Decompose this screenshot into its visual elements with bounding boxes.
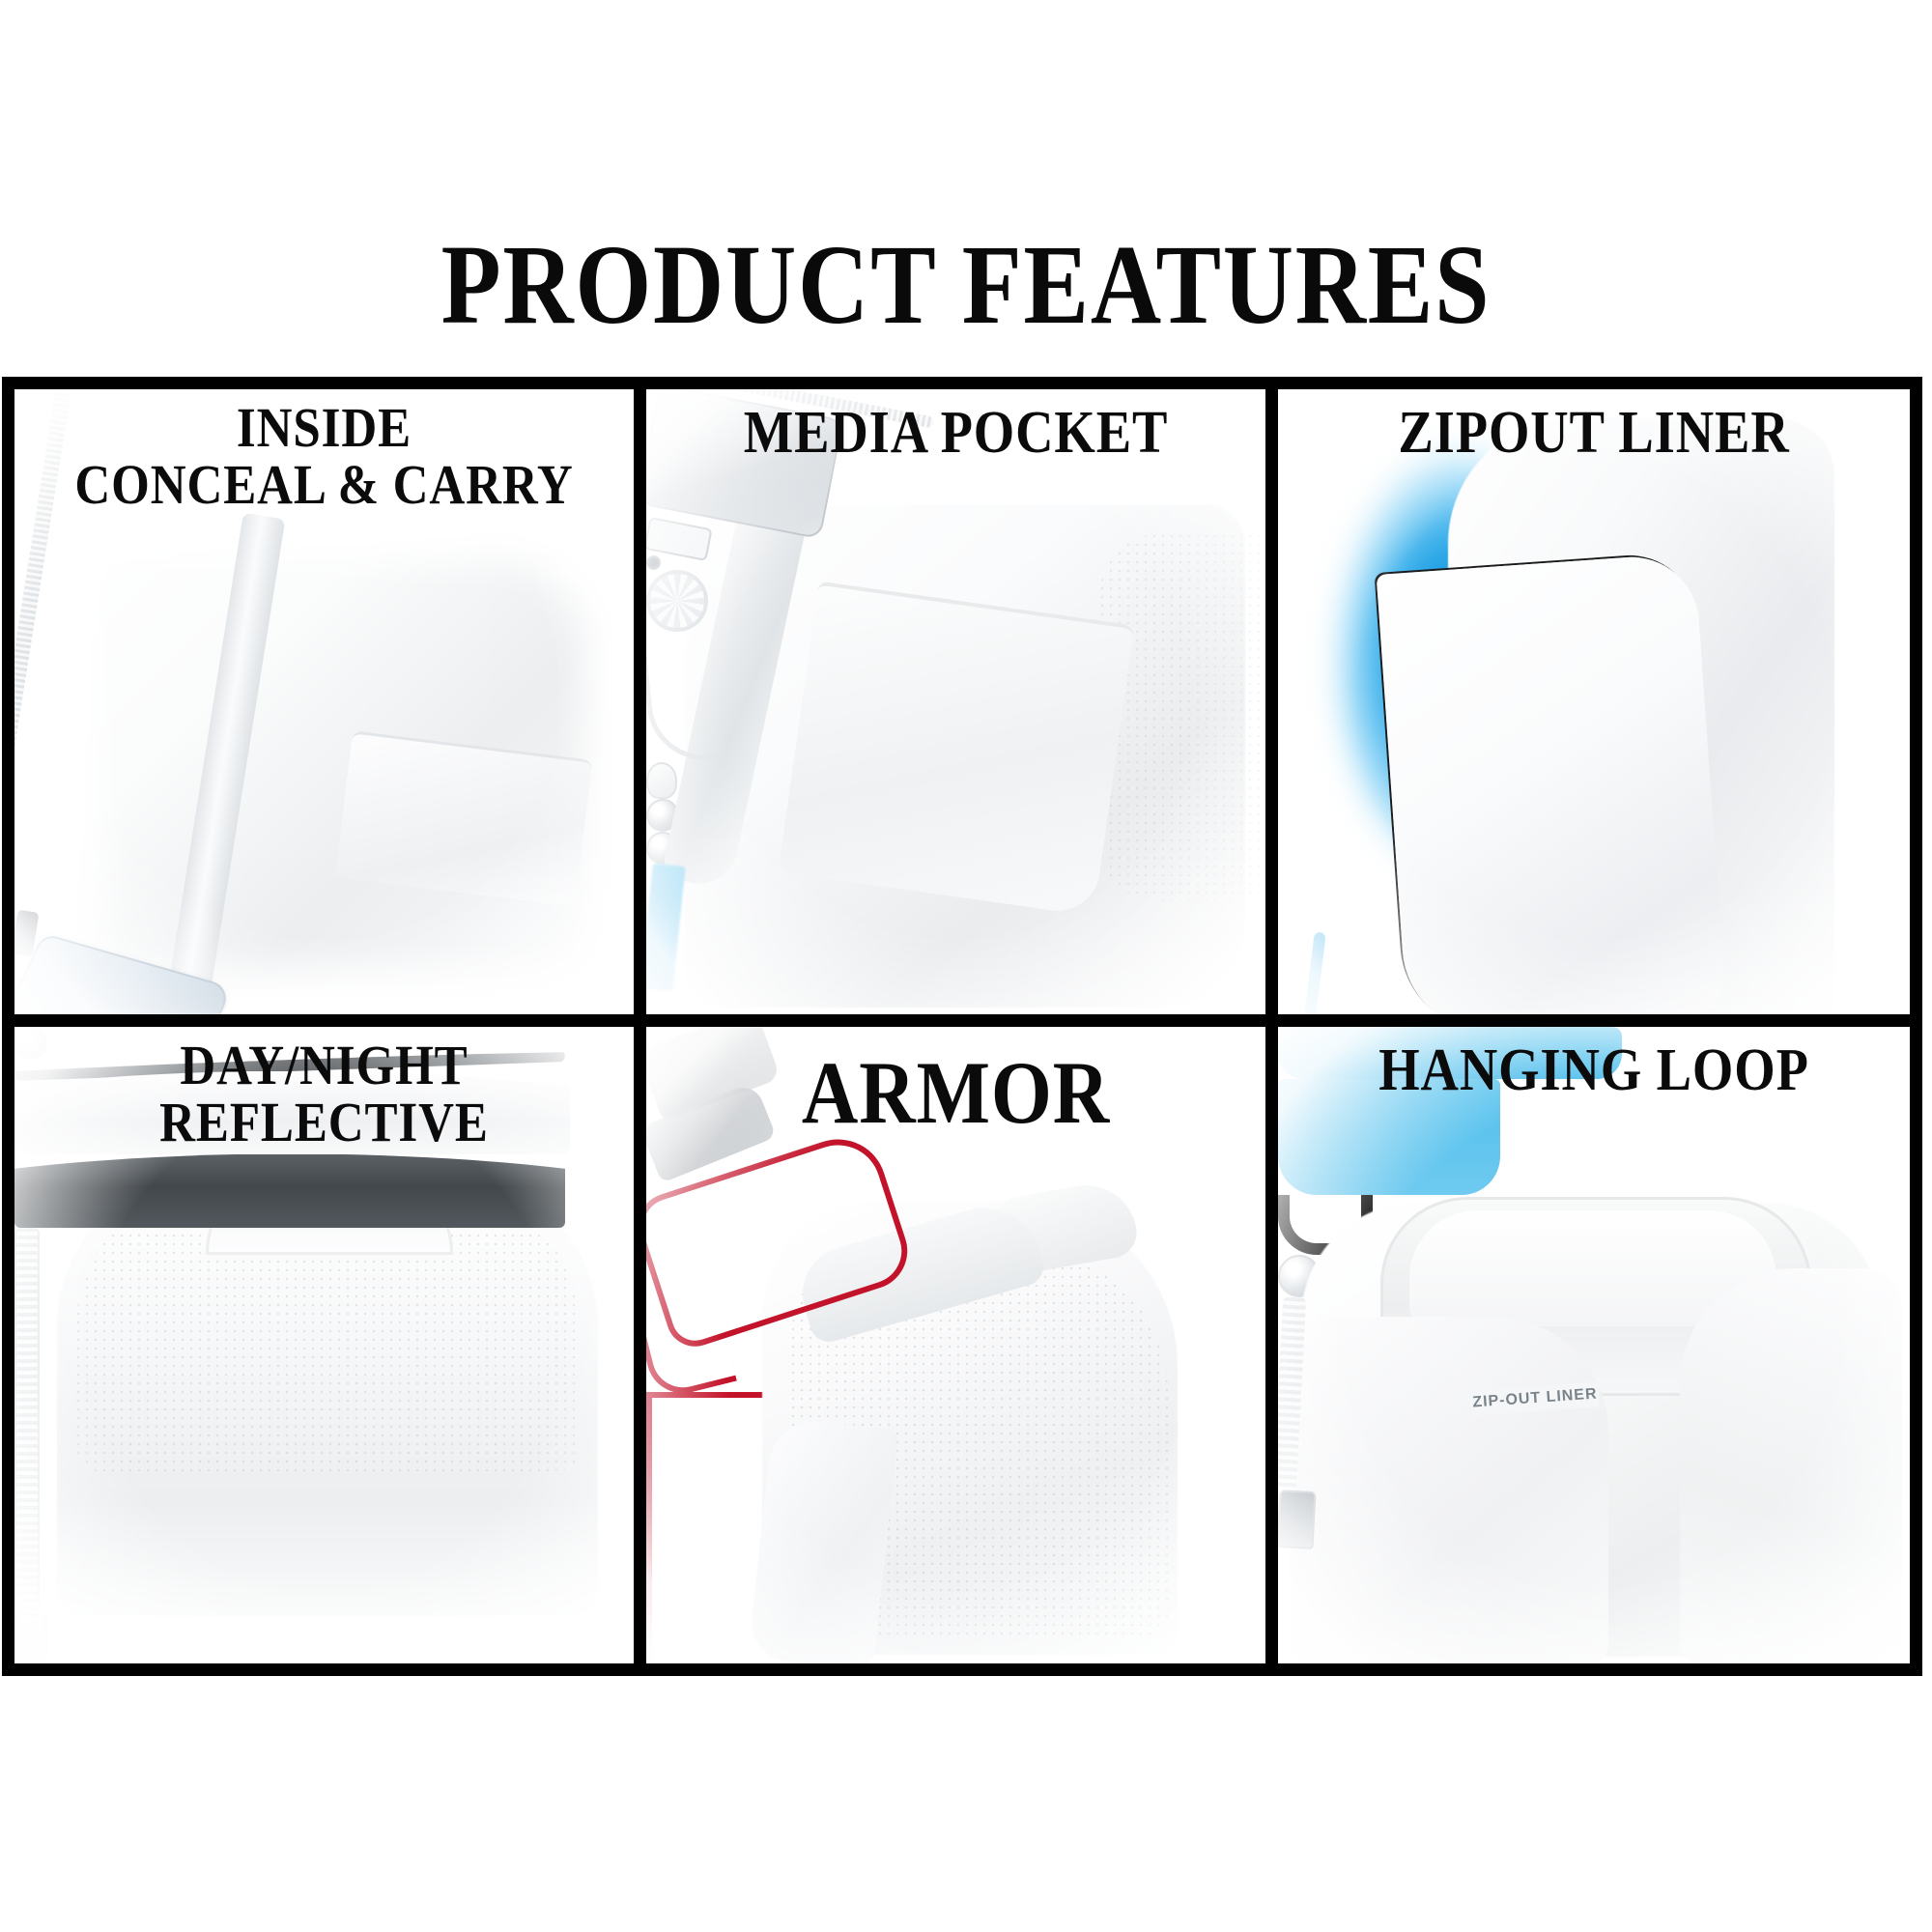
mesh-fabric-texture (1100, 534, 1274, 901)
phone-lens-icon (646, 554, 662, 572)
reflective-stripe-light (14, 1071, 570, 1154)
jacket-front-right (1680, 1268, 1902, 1664)
earphone-cord-icon (646, 628, 725, 765)
panel-photo-media-pocket (646, 389, 1265, 1014)
zipout-liner-panel (1377, 553, 1727, 1026)
jacket-front-left (1290, 1317, 1608, 1664)
phone-icon (646, 389, 843, 539)
panel-photo-hanging-loop: ZIP-OUT LINER (1278, 1027, 1910, 1664)
feature-panel-media-pocket[interactable]: MEDIA POCKET (646, 389, 1278, 1027)
armor-callout-line-vertical (646, 1398, 652, 1664)
panel-photo-armor (646, 1027, 1265, 1664)
liner-blue-accent (646, 864, 686, 992)
main-zipper (14, 391, 71, 909)
liner-blue-band (1278, 1027, 1622, 1079)
main-zipper (14, 1228, 40, 1614)
feature-grid: INSIDE CONCEAL & CARRY (2, 377, 1922, 1676)
panel-photo-day-night-reflective (14, 1027, 634, 1664)
media-pocket-shape (778, 582, 1134, 917)
liner-blue-fill (1278, 1079, 1500, 1195)
earbud-icon (646, 762, 677, 799)
page-title: PRODUCT FEATURES (135, 228, 1797, 342)
conceal-carry-pocket (335, 730, 593, 906)
jacket-sleeve (748, 1416, 897, 1663)
liner-zipper-blue (1278, 932, 1326, 1027)
panel-photo-inside-conceal-carry (14, 389, 634, 1014)
feature-panel-day-night-reflective[interactable]: DAY/NIGHT REFLECTIVE (14, 1027, 646, 1664)
feature-panel-hanging-loop[interactable]: HANGING LOOP ZIP-OUT LINER (1278, 1027, 1910, 1664)
feature-panel-zipout-liner[interactable]: ZIPOUT LINER (1278, 389, 1910, 1027)
zipper-pull-icon (14, 1614, 47, 1662)
panel-photo-zipout-liner (1278, 389, 1910, 1014)
snap-button-icon (14, 1027, 47, 1060)
zipper-pull-icon (1278, 1490, 1317, 1549)
feature-panel-armor[interactable]: ARMOR (646, 1027, 1278, 1664)
feature-panel-inside-conceal-carry[interactable]: INSIDE CONCEAL & CARRY (14, 389, 646, 1027)
reflective-stripe-dark (14, 1154, 565, 1228)
infographic-sheet: PRODUCT FEATURES INSIDE CONCEAL & CARRY (0, 0, 1932, 1932)
